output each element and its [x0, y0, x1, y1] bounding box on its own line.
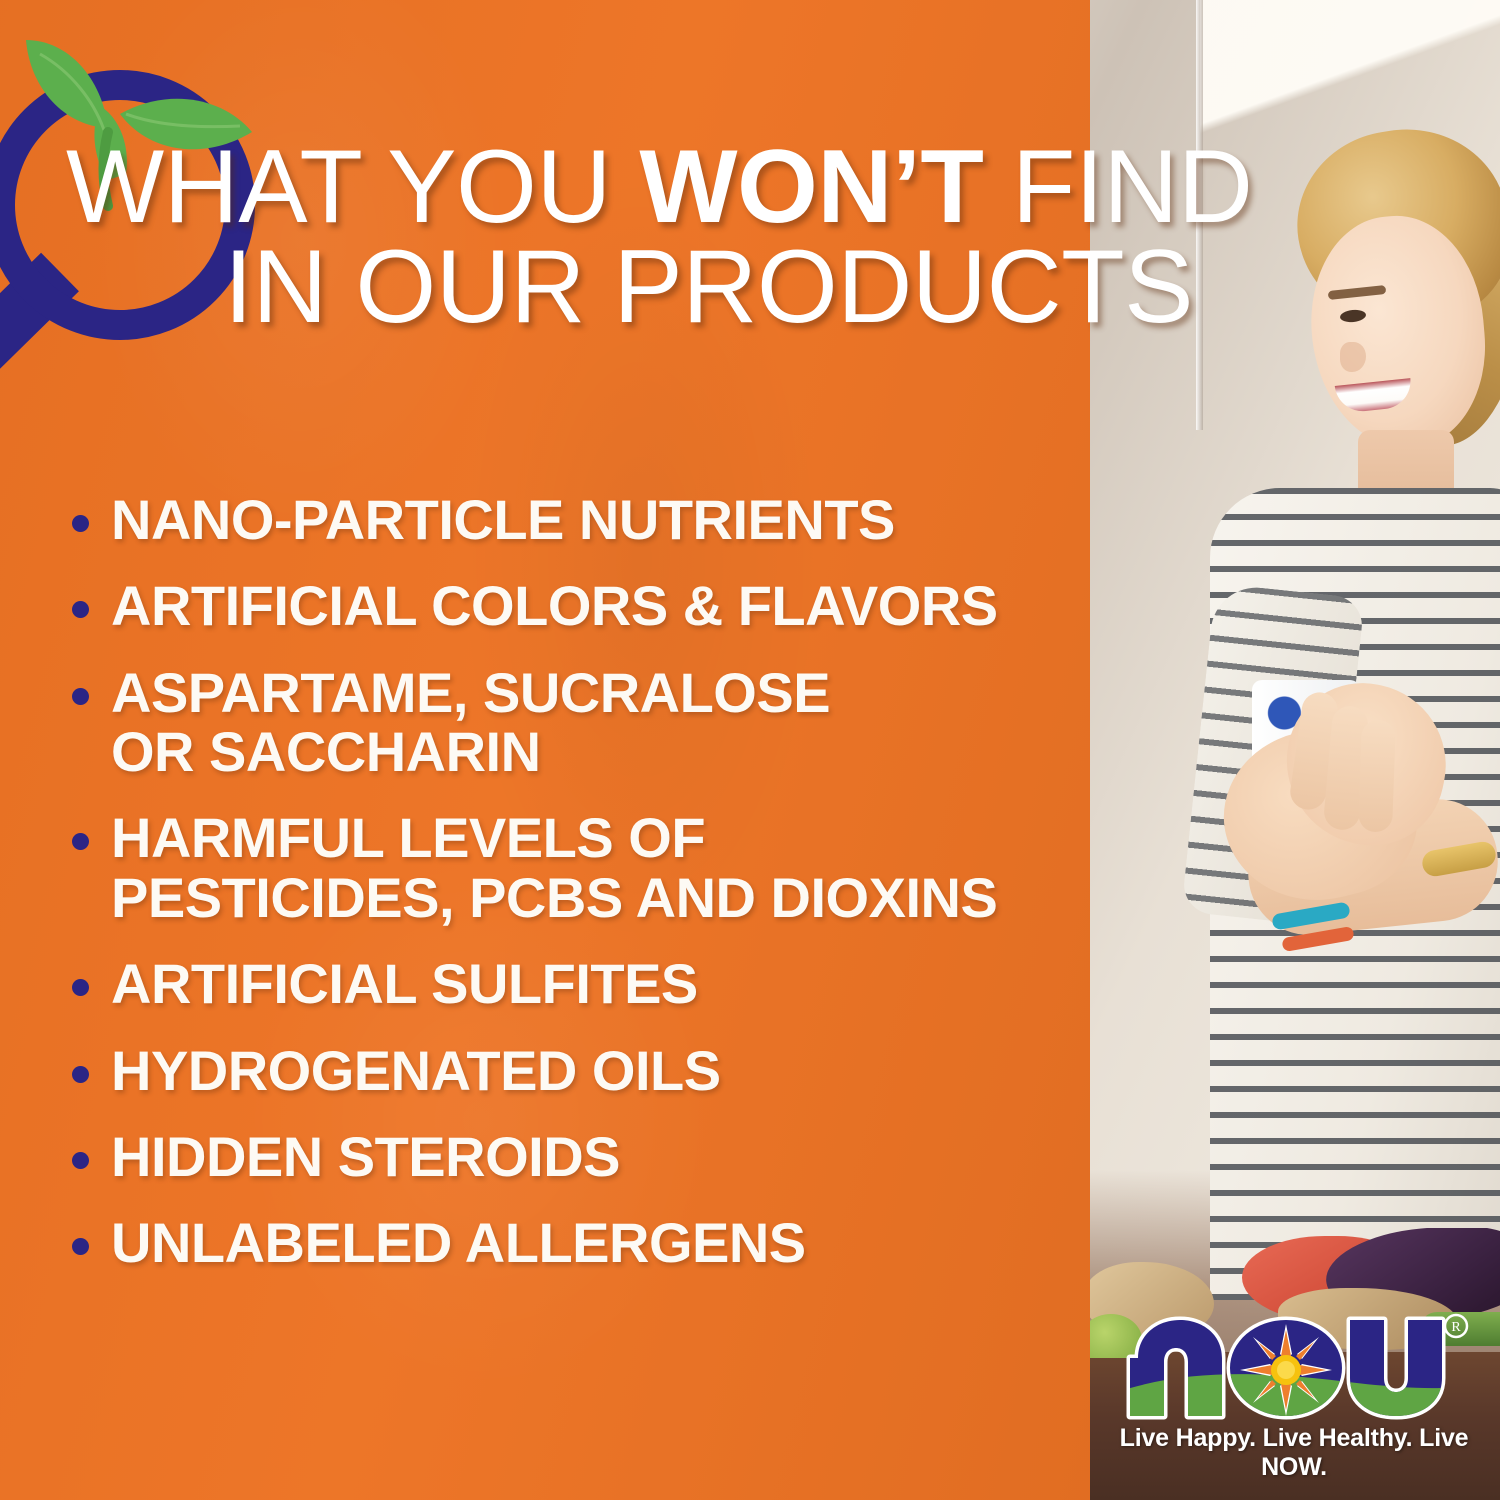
- bullet-dot-icon: [72, 1066, 89, 1083]
- list-item-line: HARMFUL LEVELS OF: [111, 808, 997, 867]
- finger: [1358, 719, 1396, 832]
- list-item-text: HARMFUL LEVELS OF PESTICIDES, PCBS AND D…: [111, 808, 997, 927]
- poster-canvas: WHAT YOU WON’T FIND IN OUR PRODUCTS NANO…: [0, 0, 1500, 1500]
- registered-mark: R: [1445, 1315, 1467, 1337]
- bullet-dot-icon: [72, 601, 89, 618]
- list-item-text: UNLABELED ALLERGENS: [111, 1213, 806, 1272]
- list-item-line: ASPARTAME, SUCRALOSE: [111, 663, 830, 722]
- headline-text-a: WHAT YOU: [66, 129, 639, 245]
- list-item-line: ARTIFICIAL COLORS & FLAVORS: [111, 576, 998, 635]
- list-item-text: ARTIFICIAL COLORS & FLAVORS: [111, 576, 998, 635]
- list-item: HYDROGENATED OILS: [72, 1041, 1082, 1100]
- bullet-dot-icon: [72, 1152, 89, 1169]
- list-item-text: ASPARTAME, SUCRALOSE OR SACCHARIN: [111, 663, 830, 782]
- list-item-line: UNLABELED ALLERGENS: [111, 1213, 806, 1272]
- list-item-text: HIDDEN STEROIDS: [111, 1127, 620, 1186]
- headline-text-b: FIND: [983, 129, 1252, 245]
- headline-line-2: IN OUR PRODUCTS: [224, 238, 1466, 338]
- list-item: NANO-PARTICLE NUTRIENTS: [72, 490, 1082, 549]
- list-item: ARTIFICIAL COLORS & FLAVORS: [72, 576, 1082, 635]
- list-item-line: NANO-PARTICLE NUTRIENTS: [111, 490, 895, 549]
- page-title: WHAT YOU WON’T FIND IN OUR PRODUCTS: [66, 138, 1466, 338]
- bullet-dot-icon: [72, 1238, 89, 1255]
- list-item-text: ARTIFICIAL SULFITES: [111, 954, 698, 1013]
- svg-text:R: R: [1451, 1320, 1461, 1335]
- list-item-line: HYDROGENATED OILS: [111, 1041, 721, 1100]
- list-item-line: HIDDEN STEROIDS: [111, 1127, 620, 1186]
- brand-tagline: Live Happy. Live Healthy. Live NOW.: [1118, 1424, 1470, 1482]
- headline-emphasis: WON’T: [639, 129, 983, 245]
- now-brand-logo: R: [1118, 1312, 1470, 1424]
- bullet-dot-icon: [72, 688, 89, 705]
- list-item: ASPARTAME, SUCRALOSE OR SACCHARIN: [72, 663, 1082, 782]
- list-item: UNLABELED ALLERGENS: [72, 1213, 1082, 1272]
- list-item-line: OR SACCHARIN: [111, 722, 830, 781]
- list-item-line: ARTIFICIAL SULFITES: [111, 954, 698, 1013]
- list-item-text: NANO-PARTICLE NUTRIENTS: [111, 490, 895, 549]
- list-item-text: HYDROGENATED OILS: [111, 1041, 721, 1100]
- bullet-dot-icon: [72, 833, 89, 850]
- list-item: ARTIFICIAL SULFITES: [72, 954, 1082, 1013]
- bullet-dot-icon: [72, 515, 89, 532]
- list-item: HARMFUL LEVELS OF PESTICIDES, PCBS AND D…: [72, 808, 1082, 927]
- exclusion-list: NANO-PARTICLE NUTRIENTS ARTIFICIAL COLOR…: [72, 490, 1082, 1300]
- bullet-dot-icon: [72, 979, 89, 996]
- list-item: HIDDEN STEROIDS: [72, 1127, 1082, 1186]
- list-item-line: PESTICIDES, PCBS AND DIOXINS: [111, 868, 997, 927]
- headline-line-1: WHAT YOU WON’T FIND: [66, 138, 1466, 238]
